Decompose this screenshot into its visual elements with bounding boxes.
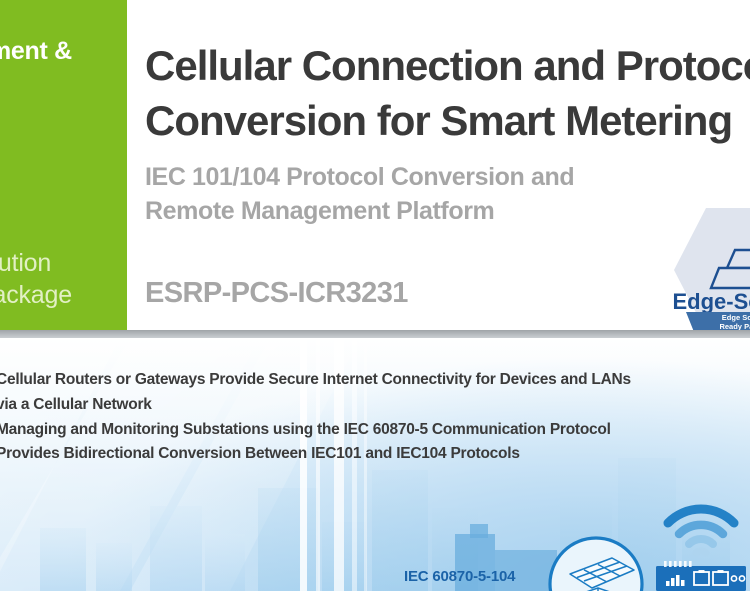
header-band: Environment & Energy Edge Solution Ready… (0, 0, 750, 331)
page-title-line2: Conversion for Smart Metering (145, 93, 750, 148)
product-banner: Environment & Energy Edge Solution Ready… (0, 0, 750, 591)
feature-line-4: Provides Bidirectional Conversion Betwee… (0, 442, 744, 467)
category-label-line2: Energy (0, 67, 127, 98)
page-title-line1: Cellular Connection and Protocol (145, 38, 750, 93)
page-subtitle: IEC 101/104 Protocol Conversion and Remo… (145, 160, 750, 229)
category-panel: Environment & Energy Edge Solution Ready… (0, 0, 127, 331)
package-label-line2: Ready Package (0, 279, 127, 311)
router-icon (656, 561, 746, 591)
edge-solution-badge: Edge-Solution Edge Solution Ready Packag… (672, 206, 750, 334)
substation-icon (546, 534, 646, 591)
badge-banner-line1: Edge Solution (722, 313, 750, 322)
package-label-line1: Edge Solution (0, 247, 127, 279)
page-subtitle-line2: Remote Management Platform (145, 194, 750, 228)
wifi-icon (662, 503, 740, 559)
page-subtitle-line1: IEC 101/104 Protocol Conversion and (145, 160, 750, 194)
protocol-label: IEC 60870-5-104 (404, 568, 515, 585)
package-label: Edge Solution Ready Package (0, 247, 127, 311)
page-title: Cellular Connection and Protocol Convers… (145, 38, 750, 149)
feature-line-1: Cellular Routers or Gateways Provide Sec… (0, 368, 744, 393)
feature-line-3: Managing and Monitoring Substations usin… (0, 418, 744, 443)
section-divider (0, 330, 750, 338)
category-label: Environment & Energy (0, 36, 127, 97)
feature-list: Cellular Routers or Gateways Provide Sec… (0, 368, 744, 467)
model-number: ESRP-PCS-ICR3231 (145, 277, 408, 310)
feature-line-2: via a Cellular Network (0, 393, 744, 418)
category-label-line1: Environment & (0, 36, 127, 67)
badge-title: Edge-Solution (672, 289, 750, 314)
